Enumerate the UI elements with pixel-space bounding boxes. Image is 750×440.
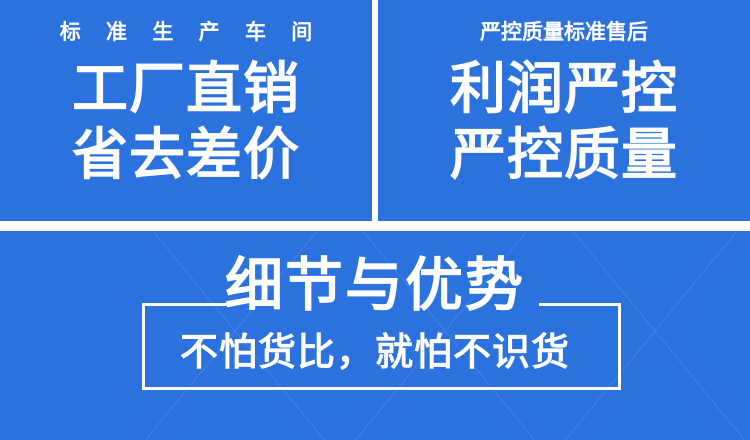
panel-quality-control: 严控质量标准售后 利润严控 严控质量 (378, 0, 750, 221)
panel-factory-direct: 标 准 生 产 车 间 工厂直销 省去差价 (0, 0, 372, 221)
top-panel-row: 标 准 生 产 车 间 工厂直销 省去差价 严控质量标准售后 利润严控 严控质量 (0, 0, 750, 221)
frame-edge-bottom (142, 387, 621, 390)
promo-banner: 标 准 生 产 车 间 工厂直销 省去差价 严控质量标准售后 利润严控 严控质量 (0, 0, 750, 440)
panel-left-headline-line1: 工厂直销 (72, 57, 300, 123)
panel-quality-control-content: 严控质量标准售后 利润严控 严控质量 (378, 0, 750, 221)
panel-left-headline-line2: 省去差价 (72, 123, 300, 189)
panel-right-eyebrow: 严控质量标准售后 (480, 22, 648, 43)
details-subtitle: 不怕货比，就怕不识货 (0, 333, 750, 371)
panel-factory-direct-content: 标 准 生 产 车 间 工厂直销 省去差价 (0, 0, 372, 221)
panel-left-eyebrow: 标 准 生 产 车 间 (51, 22, 322, 43)
details-title: 细节与优势 (0, 256, 750, 314)
panel-right-headline-line2: 严控质量 (450, 123, 678, 189)
panel-right-headline-line1: 利润严控 (450, 57, 678, 123)
